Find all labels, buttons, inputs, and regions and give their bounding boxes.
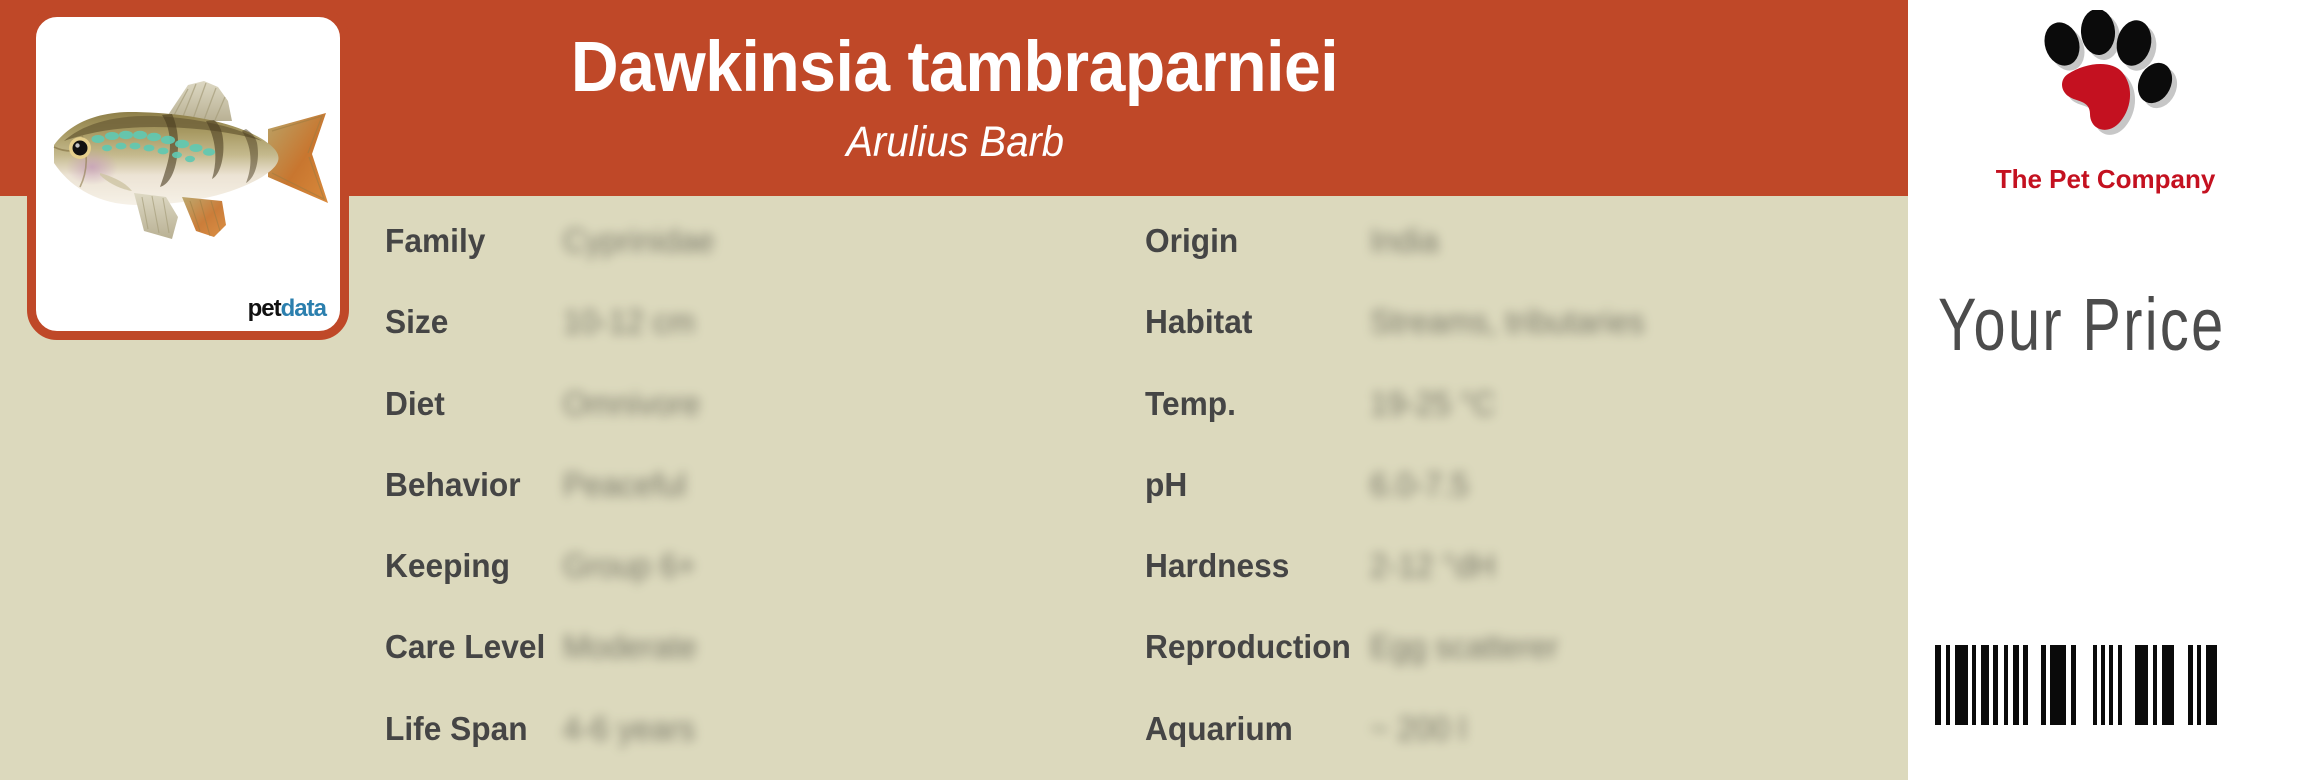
brand-name: The Pet Company bbox=[1908, 166, 2303, 192]
spec-label: Diet bbox=[385, 387, 556, 420]
spec-label: Life Span bbox=[385, 712, 556, 745]
spec-row: Behavior Peaceful bbox=[385, 464, 691, 504]
spec-value: 10-12 cm bbox=[563, 305, 695, 338]
spec-label: Size bbox=[385, 305, 556, 338]
barcode-gap bbox=[2174, 645, 2188, 725]
spec-row: Keeping Group 6+ bbox=[385, 545, 702, 585]
spec-row: Diet Omnivore bbox=[385, 383, 706, 423]
spec-row: Reproduction Egg scatterer bbox=[1145, 626, 1566, 666]
spec-value: Group 6+ bbox=[563, 549, 696, 582]
spec-label: Behavior bbox=[385, 468, 556, 501]
price-heading: Your Price bbox=[1938, 288, 2234, 362]
spec-label: Care Level bbox=[385, 630, 556, 663]
spec-label: Reproduction bbox=[1145, 630, 1361, 663]
common-name: Arulius Barb bbox=[846, 121, 1064, 164]
spec-row: Aquarium ~ 200 l bbox=[1145, 708, 1470, 748]
spec-value: Omnivore bbox=[563, 387, 700, 420]
spec-row: Care Level Moderate bbox=[385, 626, 702, 666]
spec-row: Temp. 19-25 °C bbox=[1145, 383, 1501, 423]
paw-print-icon bbox=[2016, 10, 2196, 140]
barcode-gap bbox=[2122, 645, 2135, 725]
fish-eye-pupil bbox=[73, 141, 88, 156]
spec-value: Peaceful bbox=[563, 468, 686, 501]
scientific-name: Dawkinsia tambraparniei bbox=[571, 32, 1338, 103]
specification-grid: Family Cyprinidae Size 10-12 cm Diet Omn… bbox=[0, 196, 1908, 780]
barcode-bar bbox=[2206, 645, 2217, 725]
barcode-bar bbox=[1955, 645, 1968, 725]
spec-label: Temp. bbox=[1145, 387, 1361, 420]
header-titles: Dawkinsia tambraparniei Arulius Barb bbox=[340, 0, 1570, 196]
spec-label: Aquarium bbox=[1145, 712, 1361, 745]
barcode-bar bbox=[2162, 645, 2174, 725]
paw-main-pad bbox=[2062, 64, 2130, 130]
spec-label: Origin bbox=[1145, 224, 1361, 257]
spec-row: pH 6.0-7.5 bbox=[1145, 464, 1473, 504]
spec-row: Habitat Streams, tributaries bbox=[1145, 301, 1656, 341]
spec-label: Habitat bbox=[1145, 305, 1361, 338]
spec-value: Moderate bbox=[563, 630, 697, 663]
price-panel: The Pet Company Your Price bbox=[1908, 0, 2303, 780]
spec-label: Family bbox=[385, 224, 556, 257]
spec-row: Family Cyprinidae bbox=[385, 220, 721, 260]
spec-row: Size 10-12 cm bbox=[385, 301, 701, 341]
barcode-bar bbox=[2050, 645, 2066, 725]
spec-value: 6.0-7.5 bbox=[1370, 468, 1469, 501]
spec-value: 2-12 °dH bbox=[1370, 549, 1495, 582]
spec-value: Cyprinidae bbox=[563, 224, 714, 257]
spec-row: Origin India bbox=[1145, 220, 1442, 260]
main-info-panel: Dawkinsia tambraparniei Arulius Barb bbox=[0, 0, 1908, 780]
spec-value: 4-6 years bbox=[563, 712, 695, 745]
spec-value: ~ 200 l bbox=[1370, 712, 1466, 745]
spec-label: pH bbox=[1145, 468, 1361, 501]
barcode-gap bbox=[2076, 645, 2093, 725]
spec-value: 19-25 °C bbox=[1370, 387, 1495, 420]
brand-logo: The Pet Company bbox=[1908, 6, 2303, 202]
spec-label: Hardness bbox=[1145, 549, 1361, 582]
spec-value: Streams, tributaries bbox=[1370, 305, 1645, 338]
fish-info-label: Dawkinsia tambraparniei Arulius Barb bbox=[0, 0, 2303, 780]
barcode-gap bbox=[2028, 645, 2041, 725]
barcode bbox=[1935, 645, 2217, 725]
spec-row: Hardness 2-12 °dH bbox=[1145, 545, 1501, 585]
spec-row: Life Span 4-6 years bbox=[385, 708, 701, 748]
spec-label: Keeping bbox=[385, 549, 556, 582]
barcode-bar bbox=[1981, 645, 1989, 725]
spec-value: India bbox=[1370, 224, 1439, 257]
spec-value: Egg scatterer bbox=[1370, 630, 1558, 663]
barcode-bar bbox=[2135, 645, 2148, 725]
